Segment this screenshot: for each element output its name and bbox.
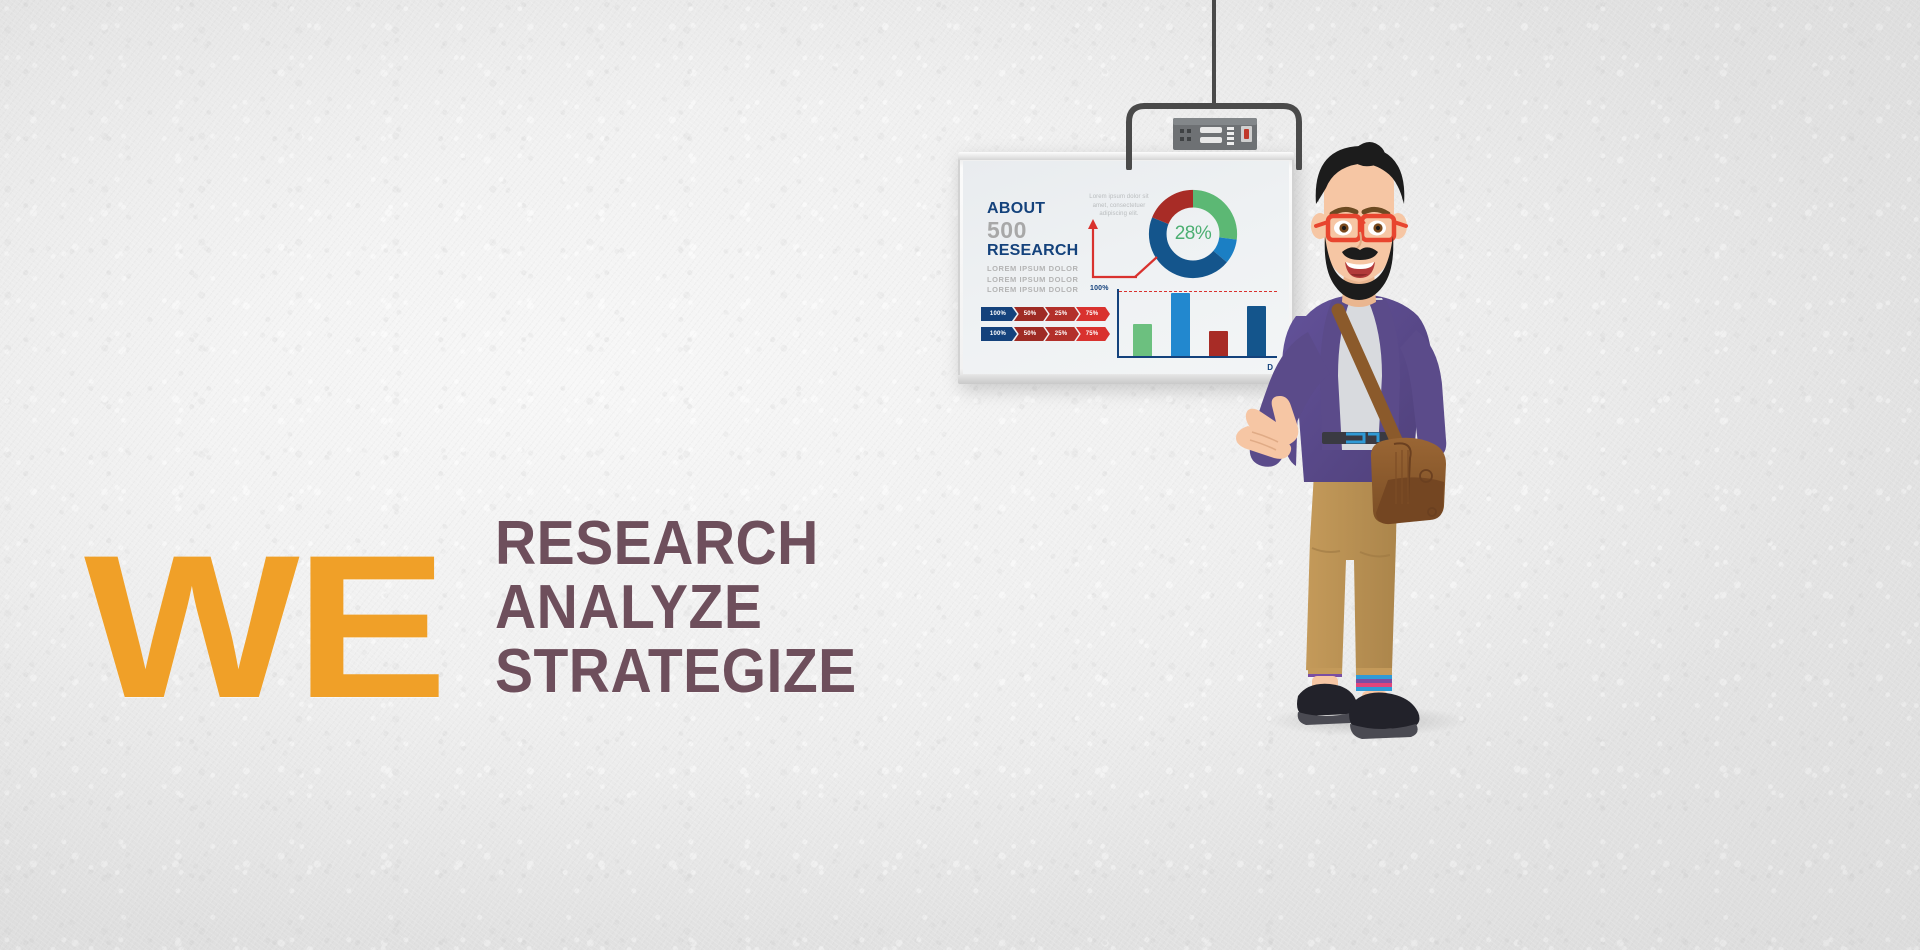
- wall-vignette: [0, 0, 1920, 950]
- infographic-bullet-list: LOREM IPSUM DOLOR LOREM IPSUM DOLOR LORE…: [987, 264, 1078, 296]
- headline-stack: RESEARCH ANALYZE STRATEGIZE: [495, 512, 888, 704]
- bar-chart-bar: [1171, 293, 1190, 356]
- chevron-step-label: 75%: [1086, 311, 1099, 317]
- chevron-step-label: 25%: [1055, 311, 1068, 317]
- chevron-step: 50%: [1014, 327, 1048, 341]
- presenter-character: [1246, 140, 1496, 740]
- chevron-step-label: 100%: [990, 311, 1006, 317]
- infographic-bullet: LOREM IPSUM DOLOR: [987, 285, 1078, 296]
- chevron-row: 100%50%25%75%: [981, 307, 1107, 321]
- chevron-row: 100%50%25%75%: [981, 327, 1107, 341]
- chevron-step-label: 100%: [990, 331, 1006, 337]
- screen-content: ABOUT 500 RESEARCH LOREM IPSUM DOLOR LOR…: [963, 161, 1289, 374]
- bar-chart-axis-label: 100%: [1090, 285, 1109, 292]
- chevron-step: 100%: [981, 307, 1017, 321]
- screen-bottom-bar: [958, 375, 1294, 384]
- presenter-character-svg: [1246, 140, 1496, 740]
- chevron-step: 25%: [1045, 307, 1079, 321]
- banner-canvas: ABOUT 500 RESEARCH LOREM IPSUM DOLOR LOR…: [0, 0, 1920, 950]
- infographic-bullet: LOREM IPSUM DOLOR: [987, 275, 1078, 286]
- chevron-step-label: 25%: [1055, 331, 1068, 337]
- infographic-about-label: ABOUT: [987, 201, 1078, 217]
- headline-line-analyze: ANALYZE: [495, 576, 857, 640]
- bar-chart-y-axis: [1117, 289, 1119, 358]
- infographic-bullet: LOREM IPSUM DOLOR: [987, 264, 1078, 275]
- headline-line-strategize: STRATEGIZE: [495, 640, 857, 704]
- chevron-step-label: 50%: [1024, 311, 1037, 317]
- chevron-step: 25%: [1045, 327, 1079, 341]
- character-messenger-bag: [1371, 438, 1446, 524]
- pointer-arrow-icon: [1081, 217, 1163, 295]
- infographic-heading-block: ABOUT 500 RESEARCH LOREM IPSUM DOLOR LOR…: [987, 201, 1078, 296]
- chevron-step: 50%: [1014, 307, 1048, 321]
- chevron-step-label: 75%: [1086, 331, 1099, 337]
- infographic-subject: RESEARCH: [987, 243, 1078, 259]
- chevron-step: 75%: [1076, 327, 1110, 341]
- bar-chart-bar: [1209, 331, 1228, 356]
- headline: WE RESEARCH ANALYZE STRATEGIZE: [84, 512, 888, 708]
- presentation-screen[interactable]: ABOUT 500 RESEARCH LOREM IPSUM DOLOR LOR…: [958, 152, 1294, 384]
- character-head: [1311, 142, 1407, 300]
- chevron-step: 100%: [981, 327, 1017, 341]
- headline-line-research: RESEARCH: [495, 512, 857, 576]
- character-shoes: [1297, 684, 1419, 739]
- headline-accent-word: WE: [84, 548, 443, 707]
- chevron-rows: 100%50%25%75% 100%50%25%75%: [981, 307, 1107, 347]
- chevron-step-label: 50%: [1024, 331, 1037, 337]
- chevron-step: 75%: [1076, 307, 1110, 321]
- infographic-count: 500: [987, 218, 1078, 242]
- bar-chart-bar: [1133, 324, 1152, 356]
